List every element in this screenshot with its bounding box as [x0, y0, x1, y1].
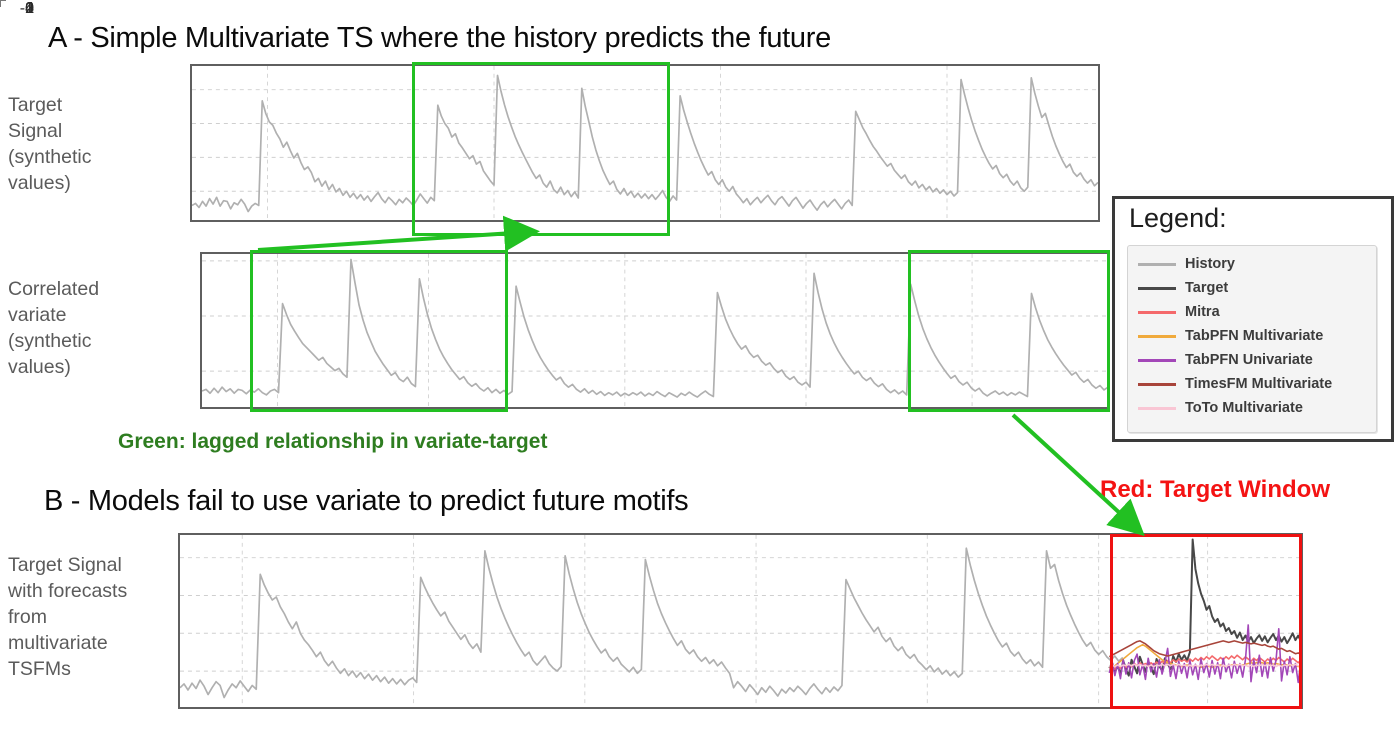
red-annotation-note: Red: Target Window [1100, 476, 1330, 504]
legend-label: TimesFM Multivariate [1185, 376, 1332, 392]
legend-label: Target [1185, 280, 1228, 296]
legend-label: TabPFN Univariate [1185, 352, 1313, 368]
legend-row: TimesFM Multivariate [1128, 372, 1376, 396]
legend-row: TabPFN Multivariate [1128, 324, 1376, 348]
plot-svg [202, 254, 1108, 407]
legend-line-swatch-icon [1138, 359, 1176, 362]
legend-panel: Legend: HistoryTargetMitraTabPFN Multiva… [1112, 196, 1394, 442]
plot-svg [180, 535, 1301, 707]
legend-line-swatch-icon [1138, 311, 1176, 314]
target-signal-row-label: Target Signal (synthetic values) [8, 92, 148, 196]
x-tick-mark [0, 0, 1, 7]
chart-target-signal-history [190, 64, 1100, 222]
legend-title: Legend: [1129, 203, 1227, 234]
legend-line-swatch-icon [1138, 383, 1176, 386]
legend-line-swatch-icon [1138, 263, 1176, 266]
legend-row: Target [1128, 276, 1376, 300]
chart-correlated-variate-history [200, 252, 1110, 409]
forecast-row-label: Target Signal with forecasts from multiv… [8, 552, 173, 682]
y-tick-label: 0 [0, 0, 34, 18]
plot-area [180, 535, 1301, 707]
plot-svg [192, 66, 1098, 220]
arrow-variate-to-target [258, 232, 528, 250]
legend-row: ToTo Multivariate [1128, 396, 1376, 420]
legend-row: Mitra [1128, 300, 1376, 324]
legend-label: Mitra [1185, 304, 1220, 320]
figure-stage: A - Simple Multivariate TS where the his… [0, 0, 1400, 740]
legend-label: History [1185, 256, 1235, 272]
series-line [180, 548, 1123, 697]
legend-label: TabPFN Multivariate [1185, 328, 1323, 344]
series-line [1109, 641, 1301, 657]
correlated-variate-row-label: Correlated variate (synthetic values) [8, 276, 158, 380]
chart-forecasts [178, 533, 1303, 709]
legend-line-swatch-icon [1138, 335, 1176, 338]
legend-row: History [1128, 252, 1376, 276]
legend-label: ToTo Multivariate [1185, 400, 1303, 416]
panel-b-title: B - Models fail to use variate to predic… [44, 485, 688, 518]
legend-row: TabPFN Univariate [1128, 348, 1376, 372]
plot-area [192, 66, 1098, 220]
legend-items-box: HistoryTargetMitraTabPFN MultivariateTab… [1127, 245, 1377, 433]
legend-line-swatch-icon [1138, 287, 1176, 290]
green-annotation-note: Green: lagged relationship in variate-ta… [118, 430, 547, 454]
plot-area [202, 254, 1108, 407]
legend-line-swatch-icon [1138, 407, 1176, 410]
series-line [1109, 540, 1301, 676]
panel-a-title: A - Simple Multivariate TS where the his… [48, 22, 831, 55]
